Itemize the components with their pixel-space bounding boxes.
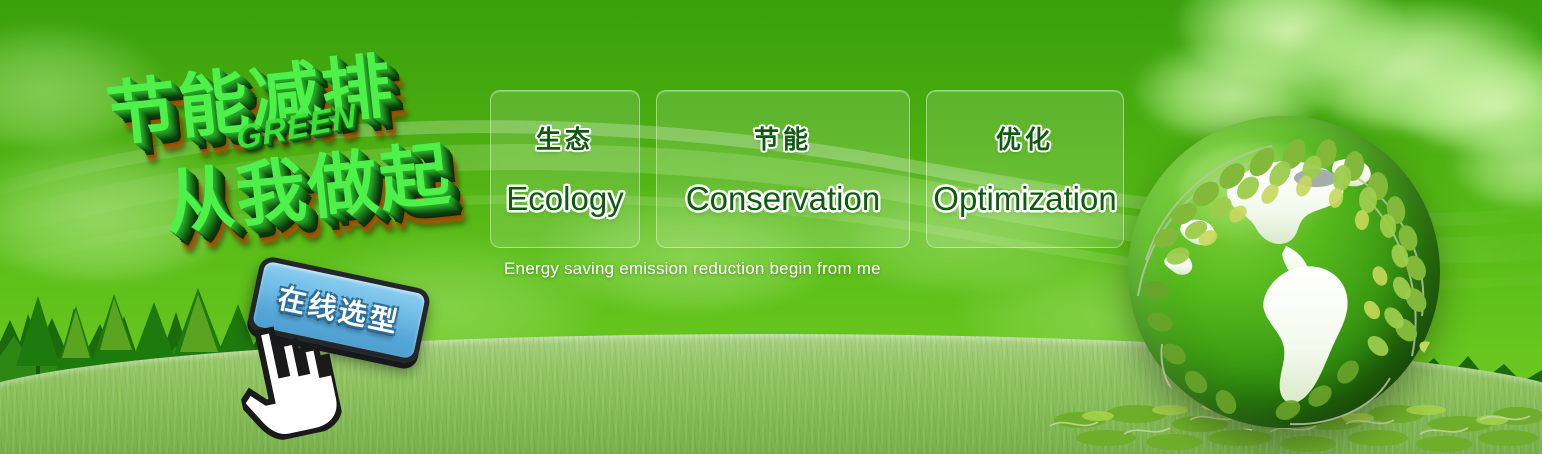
cloud-shape bbox=[1290, 2, 1542, 130]
headline-3d-artwork: 节能减排 GREEN 从我做起 bbox=[85, 14, 508, 294]
feature-card-conservation-en: Conservation bbox=[686, 180, 880, 218]
feature-card-conservation[interactable]: 节能 Conservation bbox=[656, 90, 910, 248]
eco-hero-banner: 节能减排 GREEN 从我做起 在线选型 生态 Ecology 节能 Conse… bbox=[0, 0, 1542, 454]
feature-card-optimization-en: Optimization bbox=[933, 180, 1116, 218]
globe-continents bbox=[1128, 116, 1440, 428]
leafy-earth-globe bbox=[1128, 116, 1440, 428]
feature-card-row: 生态 Ecology 节能 Conservation 优化 Optimizati… bbox=[490, 90, 1124, 248]
feature-card-ecology-cn: 生态 bbox=[536, 120, 594, 156]
feature-card-optimization-cn: 优化 bbox=[996, 120, 1054, 156]
feature-card-conservation-cn: 节能 bbox=[754, 120, 812, 156]
banner-tagline: Energy saving emission reduction begin f… bbox=[504, 259, 881, 279]
cloud-shape bbox=[1180, 0, 1400, 84]
feature-card-ecology[interactable]: 生态 Ecology bbox=[490, 90, 640, 248]
feature-card-ecology-en: Ecology bbox=[506, 180, 623, 218]
cloud-shape bbox=[1452, 120, 1542, 206]
feature-card-optimization[interactable]: 优化 Optimization bbox=[926, 90, 1124, 248]
online-selection-label: 在线选型 bbox=[275, 282, 403, 338]
